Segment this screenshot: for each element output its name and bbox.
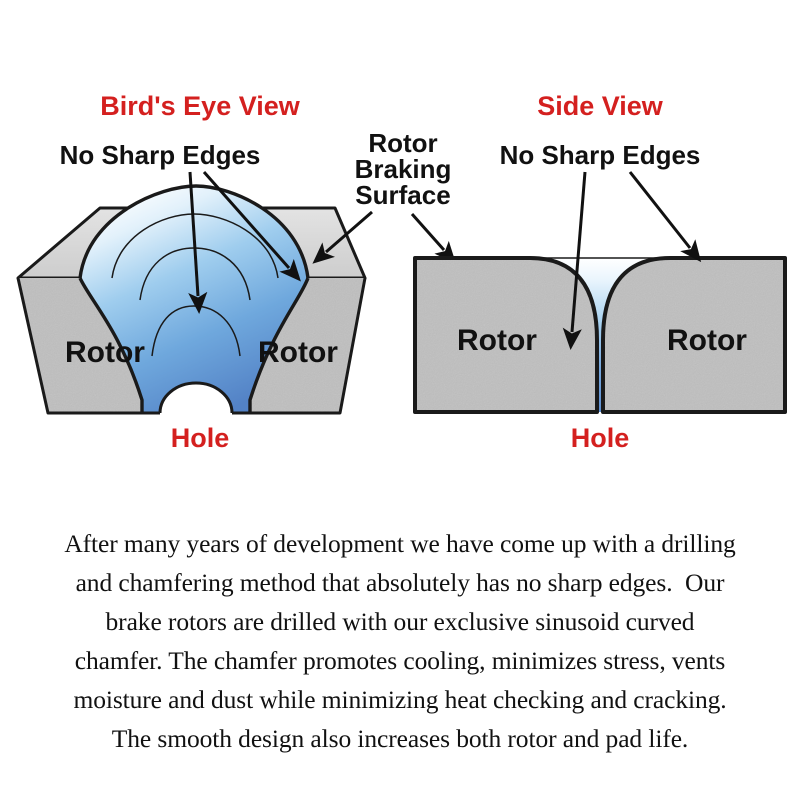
- caption-paragraph: After many years of development we have …: [0, 524, 800, 758]
- birds-eye-rotor-label-right: Rotor: [258, 336, 338, 369]
- caption-line-4: chamfer. The chamfer promotes cooling, m…: [0, 641, 800, 680]
- birds-eye-rotor-label-left: Rotor: [65, 336, 145, 369]
- caption-line-5: moisture and dust while minimizing heat …: [0, 680, 800, 719]
- rotor-braking-surface-line-3: Surface: [355, 180, 450, 210]
- rotor-braking-surface-arrow-right: [412, 214, 444, 250]
- side-view-hole-label: Hole: [571, 423, 630, 453]
- birds-eye-hole-label: Hole: [171, 423, 230, 453]
- side-view-rotor-label-left: Rotor: [457, 324, 537, 357]
- rotor-chamfer-infographic: Bird's Eye View Rotor Rotor Hole: [0, 0, 800, 800]
- birds-eye-view-group: Bird's Eye View Rotor Rotor Hole: [18, 91, 451, 453]
- side-view-arrow-no-sharp-edges-right: [630, 172, 690, 248]
- birds-eye-title: Bird's Eye View: [100, 91, 301, 121]
- caption-line-2: and chamfering method that absolutely ha…: [0, 563, 800, 602]
- side-view-group: Side View No Sharp Edges Rotor Rotor Hol…: [415, 91, 785, 453]
- caption-line-3: brake rotors are drilled with our exclus…: [0, 602, 800, 641]
- birds-eye-no-sharp-edges-label: No Sharp Edges: [60, 140, 261, 170]
- diagram-canvas: Bird's Eye View Rotor Rotor Hole: [0, 0, 800, 480]
- side-view-title: Side View: [537, 91, 664, 121]
- caption-line-1: After many years of development we have …: [0, 524, 800, 563]
- side-view-no-sharp-edges-label: No Sharp Edges: [500, 140, 701, 170]
- side-view-rotor-label-right: Rotor: [667, 324, 747, 357]
- caption-line-6: The smooth design also increases both ro…: [0, 719, 800, 758]
